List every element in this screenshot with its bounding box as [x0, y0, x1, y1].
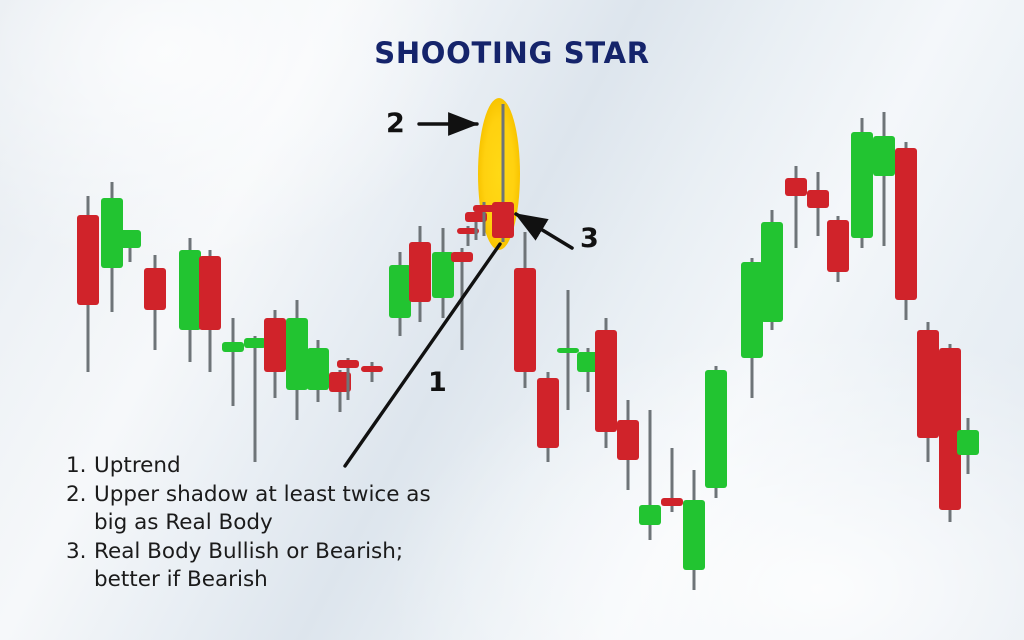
- candle-wick: [232, 318, 235, 406]
- candle-body-bearish: [144, 268, 166, 310]
- legend-item: 2.Upper shadow at least twice as big as …: [66, 481, 466, 538]
- legend-item-number: 3.: [66, 538, 94, 567]
- candle-body-bearish: [409, 242, 431, 302]
- candle-body-bearish: [473, 205, 495, 212]
- candle-body-bearish: [895, 148, 917, 300]
- candle-body-bearish: [451, 252, 473, 262]
- candle-body-bearish: [595, 330, 617, 432]
- candle-body-bearish: [337, 360, 359, 368]
- candle-body-bullish: [639, 505, 661, 525]
- legend-item: 1.Uptrend: [66, 452, 466, 481]
- candle-body-bullish: [557, 348, 579, 353]
- legend-item-text: Upper shadow at least twice as big as Re…: [94, 481, 466, 538]
- candle-body-bullish: [286, 318, 308, 390]
- marker-label-3: 3: [580, 223, 599, 254]
- legend-item-text: Real Body Bullish or Bearish; better if …: [94, 538, 466, 595]
- candle-body-bearish: [492, 202, 514, 238]
- marker-label-2: 2: [386, 108, 405, 139]
- legend-item: 3.Real Body Bullish or Bearish; better i…: [66, 538, 466, 595]
- candle-body-bearish: [199, 256, 221, 330]
- candle-body-bullish: [307, 348, 329, 390]
- candle-body-bearish: [807, 190, 829, 208]
- candle-body-bearish: [537, 378, 559, 448]
- candle-body-bullish: [741, 262, 763, 358]
- shooting-star-infographic: SHOOTING STAR 1 2 3 1.Uptrend2.Upper sha…: [0, 0, 1024, 640]
- candle-body-bearish: [939, 348, 961, 510]
- candle-body-bullish: [119, 230, 141, 248]
- candle-body-bullish: [389, 265, 411, 318]
- candle-body-bullish: [432, 252, 454, 298]
- candle-body-bullish: [222, 342, 244, 352]
- candle-body-bearish: [617, 420, 639, 460]
- legend-list: 1.Uptrend2.Upper shadow at least twice a…: [66, 452, 466, 595]
- candle-body-bullish: [851, 132, 873, 238]
- candle-body-bullish: [705, 370, 727, 488]
- candle-body-bearish: [77, 215, 99, 305]
- candle-wick: [883, 112, 886, 246]
- candle-wick: [254, 336, 257, 462]
- candle-body-bearish: [514, 268, 536, 372]
- candle-body-bullish: [873, 136, 895, 176]
- candle-body-bearish: [917, 330, 939, 438]
- candle-body-bearish: [785, 178, 807, 196]
- candle-body-bearish: [661, 498, 683, 506]
- candle-body-bullish: [244, 338, 266, 348]
- candle-body-bullish: [683, 500, 705, 570]
- candle-body-bullish: [179, 250, 201, 330]
- candle-body-bullish: [761, 222, 783, 322]
- candle-body-bullish: [957, 430, 979, 455]
- legend-item-number: 1.: [66, 452, 94, 481]
- legend-item-number: 2.: [66, 481, 94, 510]
- legend-item-text: Uptrend: [94, 452, 466, 481]
- candle-body-bearish: [827, 220, 849, 272]
- candle-body-bearish: [264, 318, 286, 372]
- marker-label-1: 1: [428, 367, 447, 398]
- candle-body-bearish: [361, 366, 383, 372]
